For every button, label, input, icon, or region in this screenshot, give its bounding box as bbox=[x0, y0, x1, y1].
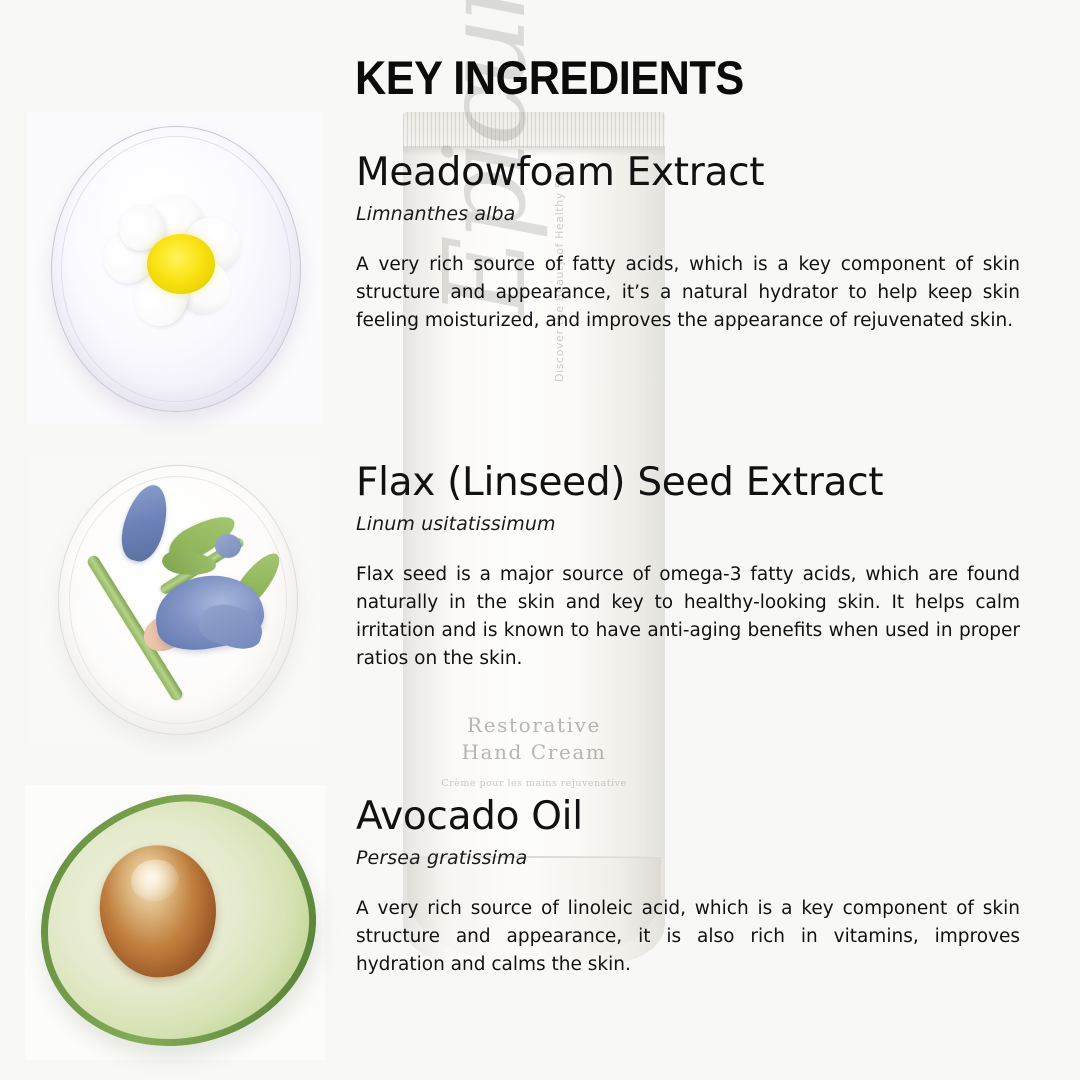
petri-dish bbox=[58, 465, 298, 735]
petal bbox=[175, 207, 251, 282]
stem bbox=[225, 556, 276, 625]
petri-dish bbox=[51, 126, 301, 412]
ingredient-image-flax bbox=[30, 455, 320, 745]
product-name-line-1: Restorative bbox=[403, 712, 665, 739]
ingredient-latin-name: Linum usitatissimum bbox=[356, 513, 1020, 535]
ingredient-description: A very rich source of linoleic acid, whi… bbox=[356, 895, 1020, 979]
product-name-line-2: Hand Cream bbox=[403, 739, 665, 766]
stem bbox=[159, 536, 246, 595]
meadowfoam-flower bbox=[103, 196, 249, 330]
avocado-half bbox=[13, 767, 341, 1074]
ingredient-block-meadowfoam: Meadowfoam Extract Limnanthes alba A ver… bbox=[356, 152, 1020, 335]
avocado-pit-highlight bbox=[129, 857, 181, 904]
petal bbox=[125, 261, 197, 335]
ingredient-name: Meadowfoam Extract bbox=[356, 152, 1020, 194]
green-bud bbox=[229, 547, 288, 612]
petal bbox=[93, 221, 165, 293]
product-name-french: Crème pour les mains rejuvenative bbox=[403, 778, 665, 789]
tube-crimp-seal bbox=[403, 112, 665, 148]
ingredient-description: A very rich source of fatty acids, which… bbox=[356, 251, 1020, 335]
ingredient-name: Flax (Linseed) Seed Extract bbox=[356, 462, 1020, 504]
flower-throat bbox=[138, 608, 192, 658]
tube-label-block: Restorative Hand Cream Crème pour les ma… bbox=[403, 712, 665, 789]
green-bud bbox=[161, 548, 217, 578]
flax-bloom bbox=[150, 567, 269, 657]
page-title: KEY INGREDIENTS bbox=[355, 50, 744, 105]
petal bbox=[173, 254, 238, 320]
ingredient-block-flax: Flax (Linseed) Seed Extract Linum usitat… bbox=[356, 462, 1020, 674]
ingredient-name: Avocado Oil bbox=[356, 796, 1020, 838]
ingredient-latin-name: Persea gratissima bbox=[356, 847, 1020, 869]
blue-bud bbox=[215, 534, 241, 558]
ingredient-block-avocado: Avocado Oil Persea gratissima A very ric… bbox=[356, 796, 1020, 979]
ingredient-description: Flax seed is a major source of omega-3 f… bbox=[356, 561, 1020, 673]
petal bbox=[140, 192, 207, 252]
green-bud bbox=[163, 508, 241, 568]
petal bbox=[112, 199, 172, 258]
blue-bud bbox=[115, 480, 175, 566]
ingredient-image-meadowfoam bbox=[27, 112, 322, 424]
stem bbox=[85, 554, 184, 703]
flower-center bbox=[147, 234, 215, 294]
flax-bloom bbox=[195, 598, 268, 654]
ingredient-latin-name: Limnanthes alba bbox=[356, 203, 1020, 225]
ingredient-image-avocado bbox=[25, 785, 325, 1060]
